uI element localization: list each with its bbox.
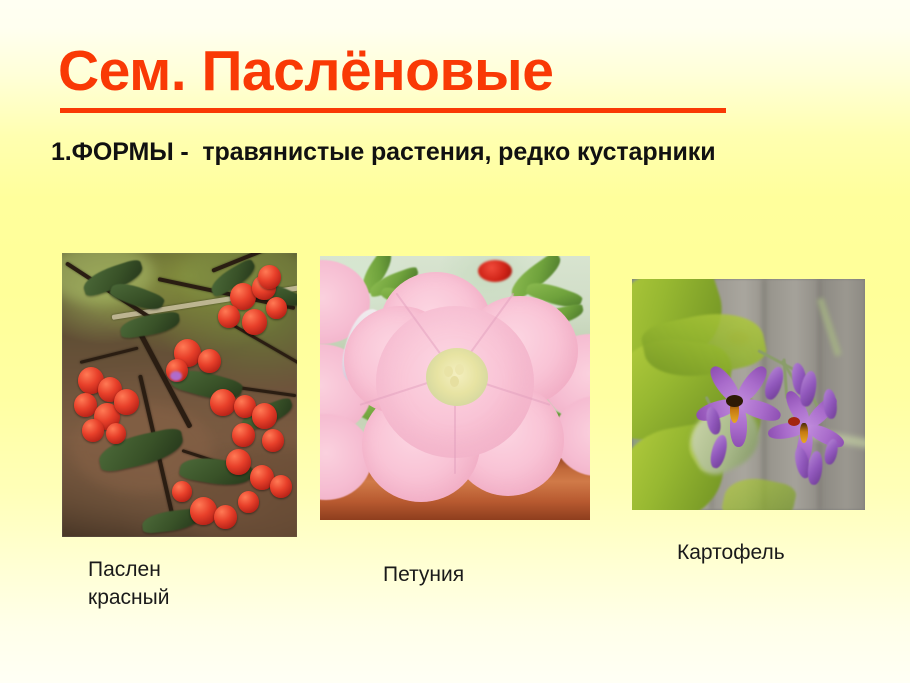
caption-petunia: Петуния <box>383 561 464 589</box>
title-underline <box>60 108 726 113</box>
image-nightshade <box>62 253 297 537</box>
caption-potato: Картофель <box>677 539 785 567</box>
page-title: Сем. Паслёновые <box>58 42 553 100</box>
caption-nightshade: Паслен красный <box>88 556 169 611</box>
image-petunia <box>320 256 590 520</box>
subtitle-forms: 1.ФОРМЫ - травянистые растения, редко ку… <box>51 138 716 167</box>
image-potato <box>632 279 865 510</box>
slide: Сем. Паслёновые 1.ФОРМЫ - травянистые ра… <box>0 0 910 683</box>
